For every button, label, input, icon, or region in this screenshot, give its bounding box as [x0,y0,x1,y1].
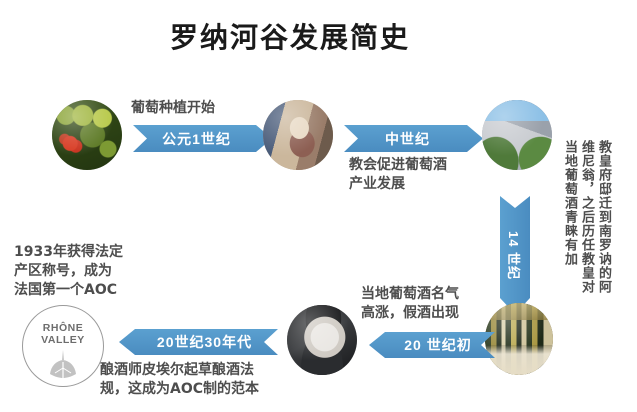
caption-first-aoc-1933: 1933年获得法定 产区称号，成为 法国第一个AOC [14,243,164,300]
grape-leaf-icon [47,350,79,380]
wine-bottles-image [485,303,553,375]
arrow-1930s-label: 20世纪30年代 [157,332,252,352]
caption-first-aoc-1933-line2: 产区称号，成为 [14,262,164,281]
arrow-14th-century[interactable]: 14 世纪 [500,196,530,314]
caption-fame-and-fake-wine-line1: 当地葡萄酒名气 [361,285,501,304]
caption-pierre-drafts-law-line1: 酿酒师皮埃尔起草酿酒法 [100,361,300,380]
caption-first-aoc-1933-line3: 法国第一个AOC [14,281,164,300]
rhone-valley-logo-line1: RHÔNE [23,322,103,334]
vineyard-photo-image [52,100,122,170]
caption-church-promotes-wine: 教会促进葡萄酒 产业发展 [349,156,484,194]
arrow-early-20th-century[interactable]: 20 世纪初 [369,332,495,358]
side-note-column-3: 当地葡萄酒青睐有加 [562,140,577,300]
page-title: 罗纳河谷发展简史 [0,16,580,56]
chateau-image [482,100,552,170]
caption-first-aoc-1933-line1: 1933年获得法定 [14,243,164,262]
arrow-middle-ages[interactable]: 中世纪 [344,125,483,152]
arrow-1930s[interactable]: 20世纪30年代 [119,329,278,355]
caption-fame-and-fake-wine: 当地葡萄酒名气 高涨，假酒出现 [361,285,501,323]
side-note-column-1: 教皇府邸迁到南罗讷的阿 [596,140,611,300]
wine-bottles-photo [485,303,553,375]
side-note-column-2: 维尼翁，之后历任教皇对 [579,140,594,300]
rhone-valley-logo-line2: VALLEY [23,334,103,346]
arrow-1st-century-label: 公元1世纪 [162,129,231,149]
infographic-canvas: 罗纳河谷发展简史 葡萄种植开始 公元1世纪 中世纪 教会促进葡萄酒 产业发展 1… [0,0,637,412]
side-note-papal-residence: 教皇府邸迁到南罗讷的阿 维尼翁，之后历任教皇对 当地葡萄酒青睐有加 [562,140,611,300]
rhone-valley-logo-text: RHÔNE VALLEY [23,322,103,346]
rhone-valley-logo: RHÔNE VALLEY [22,305,104,387]
arrow-1st-century[interactable]: 公元1世纪 [133,125,272,152]
medieval-illustration-image [263,100,333,170]
caption-pierre-drafts-law-line2: 规，这成为AOC制的范本 [100,380,300,399]
caption-pierre-drafts-law: 酿酒师皮埃尔起草酿酒法 规，这成为AOC制的范本 [100,361,300,399]
caption-grape-planting-begins: 葡萄种植开始 [131,99,215,118]
caption-fame-and-fake-wine-line2: 高涨，假酒出现 [361,304,501,323]
vineyard-photo [52,100,122,170]
chateau-photo [482,100,552,170]
arrow-middle-ages-label: 中世纪 [385,129,430,149]
caption-church-promotes-wine-line2: 产业发展 [349,175,484,194]
medieval-illustration-photo [263,100,333,170]
arrow-early-20th-century-label: 20 世纪初 [404,335,471,355]
arrow-14th-century-label: 14 世纪 [506,230,525,279]
caption-church-promotes-wine-line1: 教会促进葡萄酒 [349,156,484,175]
